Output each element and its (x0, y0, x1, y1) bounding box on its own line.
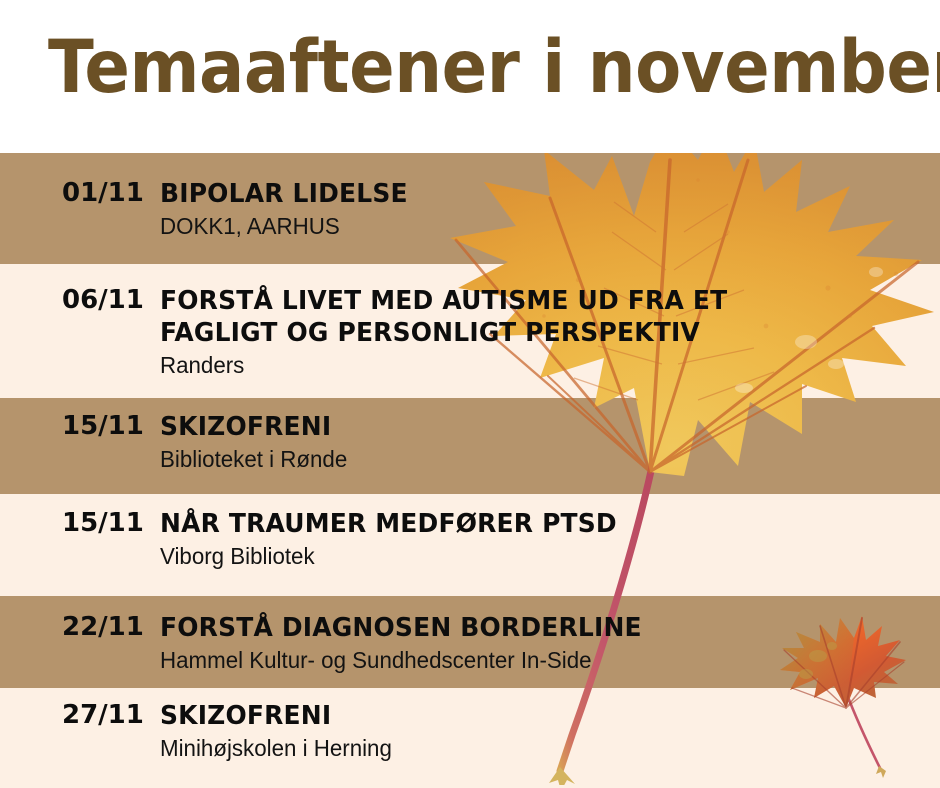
event-date: 15/11 (0, 508, 160, 538)
table-row[interactable]: 22/11 FORSTÅ DIAGNOSEN BORDERLINE Hammel… (0, 612, 940, 674)
event-title: NÅR TRAUMER MEDFØRER PTSD (160, 508, 909, 540)
event-venue: Randers (160, 351, 917, 379)
event-date: 15/11 (0, 411, 160, 441)
event-venue: DOKK1, AARHUS (160, 212, 917, 240)
event-date: 01/11 (0, 178, 160, 208)
event-title-line-1: FORSTÅ LIVET MED AUTISME UD FRA ET (160, 285, 909, 317)
event-date: 22/11 (0, 612, 160, 642)
table-row[interactable]: 27/11 SKIZOFRENI Minihøjskolen i Herning (0, 700, 940, 762)
event-body: SKIZOFRENI Biblioteket i Rønde (160, 411, 940, 473)
event-venue: Biblioteket i Rønde (160, 445, 917, 473)
event-venue: Hammel Kultur- og Sundhedscenter In-Side (160, 646, 917, 674)
event-venue: Viborg Bibliotek (160, 542, 917, 570)
page-title: Temaaftener i november (48, 25, 839, 111)
event-date: 27/11 (0, 700, 160, 730)
table-row[interactable]: 15/11 NÅR TRAUMER MEDFØRER PTSD Viborg B… (0, 508, 940, 570)
event-date: 06/11 (0, 285, 160, 315)
table-row[interactable]: 15/11 SKIZOFRENI Biblioteket i Rønde (0, 411, 940, 473)
event-title-line-2: FAGLIGT OG PERSONLIGT PERSPEKTIV (160, 317, 909, 349)
event-title: SKIZOFRENI (160, 700, 909, 732)
event-title: BIPOLAR LIDELSE (160, 178, 909, 210)
table-row[interactable]: 01/11 BIPOLAR LIDELSE DOKK1, AARHUS (0, 178, 940, 240)
event-body: FORSTÅ LIVET MED AUTISME UD FRA ET FAGLI… (160, 285, 940, 379)
event-body: FORSTÅ DIAGNOSEN BORDERLINE Hammel Kultu… (160, 612, 940, 674)
event-title: FORSTÅ DIAGNOSEN BORDERLINE (160, 612, 909, 644)
event-body: SKIZOFRENI Minihøjskolen i Herning (160, 700, 940, 762)
poster-header: Temaaftener i november (0, 0, 940, 153)
event-venue: Minihøjskolen i Herning (160, 734, 917, 762)
poster-canvas: Temaaftener i november 01/11 BIPOLAR LID… (0, 0, 940, 788)
event-title: SKIZOFRENI (160, 411, 909, 443)
table-row[interactable]: 06/11 FORSTÅ LIVET MED AUTISME UD FRA ET… (0, 285, 940, 379)
event-body: BIPOLAR LIDELSE DOKK1, AARHUS (160, 178, 940, 240)
event-body: NÅR TRAUMER MEDFØRER PTSD Viborg Bibliot… (160, 508, 940, 570)
